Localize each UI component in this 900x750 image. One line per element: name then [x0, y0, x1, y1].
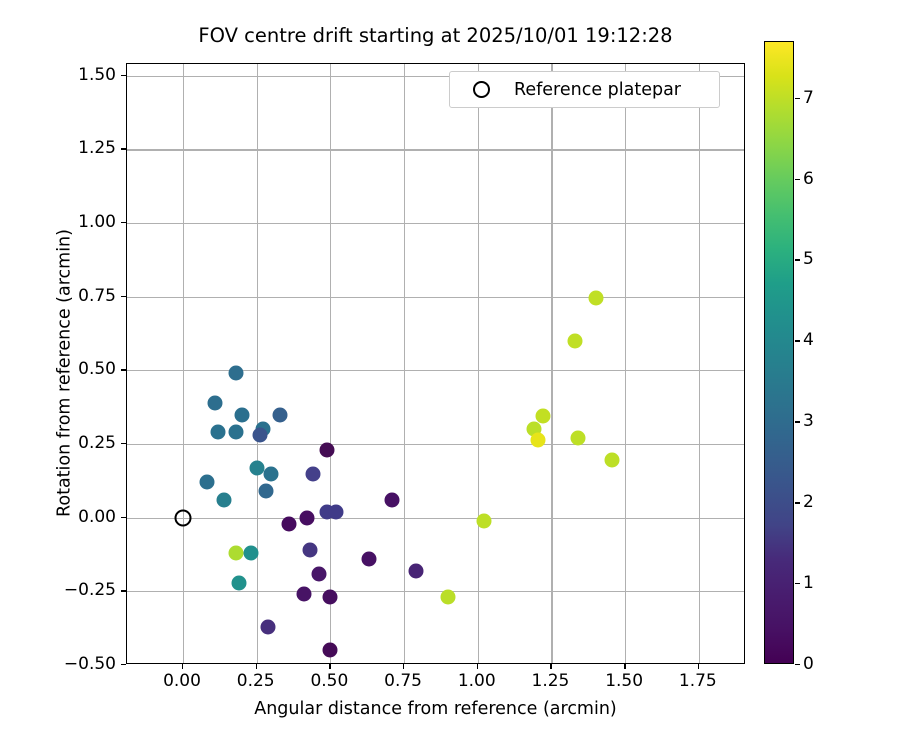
scatter-point: [229, 425, 244, 440]
y-axis-tick: [121, 75, 126, 76]
colorbar-tick-label: 4: [803, 330, 814, 350]
x-gridline: [478, 64, 479, 663]
y-axis-tick-label: −0.50: [64, 654, 116, 674]
legend-entry-label: Reference platepar: [490, 80, 719, 100]
scatter-point: [261, 619, 276, 634]
scatter-point: [296, 587, 311, 602]
x-axis-tick-label: 0.50: [310, 671, 348, 691]
y-axis-tick-label: 1.00: [78, 212, 116, 232]
y-gridline: [127, 223, 744, 224]
x-axis-tick: [624, 664, 625, 669]
y-gridline: [127, 518, 744, 519]
colorbar-tick: [795, 502, 800, 503]
scatter-point: [258, 484, 273, 499]
y-axis-tick: [121, 664, 126, 665]
x-axis-tick-label: 1.75: [679, 671, 717, 691]
x-axis-tick-label: 1.50: [605, 671, 643, 691]
scatter-point: [568, 333, 583, 348]
x-gridline: [183, 64, 184, 663]
scatter-point: [311, 566, 326, 581]
x-axis-tick: [477, 664, 478, 669]
plot-area: [126, 63, 745, 664]
scatter-point: [302, 543, 317, 558]
x-axis-tick-label: 1.25: [532, 671, 570, 691]
colorbar-tick: [795, 259, 800, 260]
scatter-point: [264, 466, 279, 481]
y-gridline: [127, 444, 744, 445]
y-axis-tick-label: 1.25: [78, 138, 116, 158]
scatter-point: [273, 407, 288, 422]
y-axis-tick: [121, 590, 126, 591]
y-axis-tick: [121, 369, 126, 370]
colorbar-tick: [795, 98, 800, 99]
y-axis-tick-label: 0.25: [78, 433, 116, 453]
scatter-point: [199, 475, 214, 490]
colorbar-tick-label: 0: [803, 654, 814, 674]
scatter-point: [441, 590, 456, 605]
x-axis-label: Angular distance from reference (arcmin): [126, 699, 745, 719]
page-title: FOV centre drift starting at 2025/10/01 …: [126, 24, 745, 48]
scatter-point: [305, 466, 320, 481]
x-gridline: [699, 64, 700, 663]
colorbar-tick: [795, 664, 800, 665]
x-axis-tick: [256, 664, 257, 669]
scatter-point: [229, 366, 244, 381]
scatter-point: [570, 431, 585, 446]
y-axis-tick: [121, 443, 126, 444]
scatter-point: [323, 590, 338, 605]
y-axis-tick-label: 1.50: [78, 65, 116, 85]
y-axis-tick-label: 0.50: [78, 359, 116, 379]
scatter-point: [211, 425, 226, 440]
y-gridline: [127, 149, 744, 150]
colorbar-tick-label: 7: [803, 88, 814, 108]
x-gridline: [625, 64, 626, 663]
x-axis-tick-label: 0.25: [237, 671, 275, 691]
scatter-point: [282, 516, 297, 531]
scatter-point: [320, 442, 335, 457]
scatter-point: [229, 546, 244, 561]
y-axis-tick-label: 0.00: [78, 507, 116, 527]
x-axis-tick-label: 0.75: [384, 671, 422, 691]
reference-platepar-marker-icon: [473, 81, 490, 98]
scatter-point: [252, 428, 267, 443]
x-axis-tick: [182, 664, 183, 669]
scatter-point: [299, 510, 314, 525]
y-gridline: [127, 591, 744, 592]
reference-platepar-point: [175, 509, 192, 526]
y-axis-tick-label: 0.75: [78, 286, 116, 306]
scatter-point: [408, 563, 423, 578]
x-axis-tick-label: 0.00: [163, 671, 201, 691]
scatter-point: [217, 493, 232, 508]
scatter-point: [588, 291, 603, 306]
colorbar: [764, 41, 794, 664]
colorbar-tick-label: 6: [803, 169, 814, 189]
y-axis-tick: [121, 222, 126, 223]
scatter-point: [243, 546, 258, 561]
scatter-point: [476, 513, 491, 528]
x-axis-tick: [329, 664, 330, 669]
x-axis-tick-label: 1.00: [458, 671, 496, 691]
scatter-point: [531, 432, 546, 447]
scatter-point: [208, 395, 223, 410]
x-axis-tick: [403, 664, 404, 669]
scatter-point: [234, 407, 249, 422]
scatter-point: [604, 453, 619, 468]
chart-figure: FOV centre drift starting at 2025/10/01 …: [0, 0, 900, 750]
scatter-point: [385, 493, 400, 508]
y-gridline: [127, 297, 744, 298]
y-axis-tick: [121, 296, 126, 297]
colorbar-tick: [795, 340, 800, 341]
colorbar-tick-label: 1: [803, 573, 814, 593]
y-gridline: [127, 370, 744, 371]
scatter-point: [535, 409, 550, 424]
colorbar-tick-label: 5: [803, 249, 814, 269]
colorbar-tick: [795, 179, 800, 180]
scatter-point: [361, 551, 376, 566]
colorbar-tick: [795, 583, 800, 584]
legend: Reference platepar: [449, 71, 720, 108]
colorbar-tick-label: 3: [803, 411, 814, 431]
x-gridline: [551, 64, 552, 663]
scatter-point: [232, 575, 247, 590]
scatter-point: [329, 504, 344, 519]
y-axis-tick-label: −0.25: [64, 580, 116, 600]
colorbar-tick-label: 2: [803, 492, 814, 512]
y-axis-tick: [121, 517, 126, 518]
y-axis-tick: [121, 148, 126, 149]
x-gridline: [257, 64, 258, 663]
scatter-point: [249, 460, 264, 475]
scatter-point: [323, 643, 338, 658]
colorbar-tick: [795, 421, 800, 422]
x-axis-tick: [698, 664, 699, 669]
x-axis-tick: [550, 664, 551, 669]
x-gridline: [330, 64, 331, 663]
x-gridline: [404, 64, 405, 663]
